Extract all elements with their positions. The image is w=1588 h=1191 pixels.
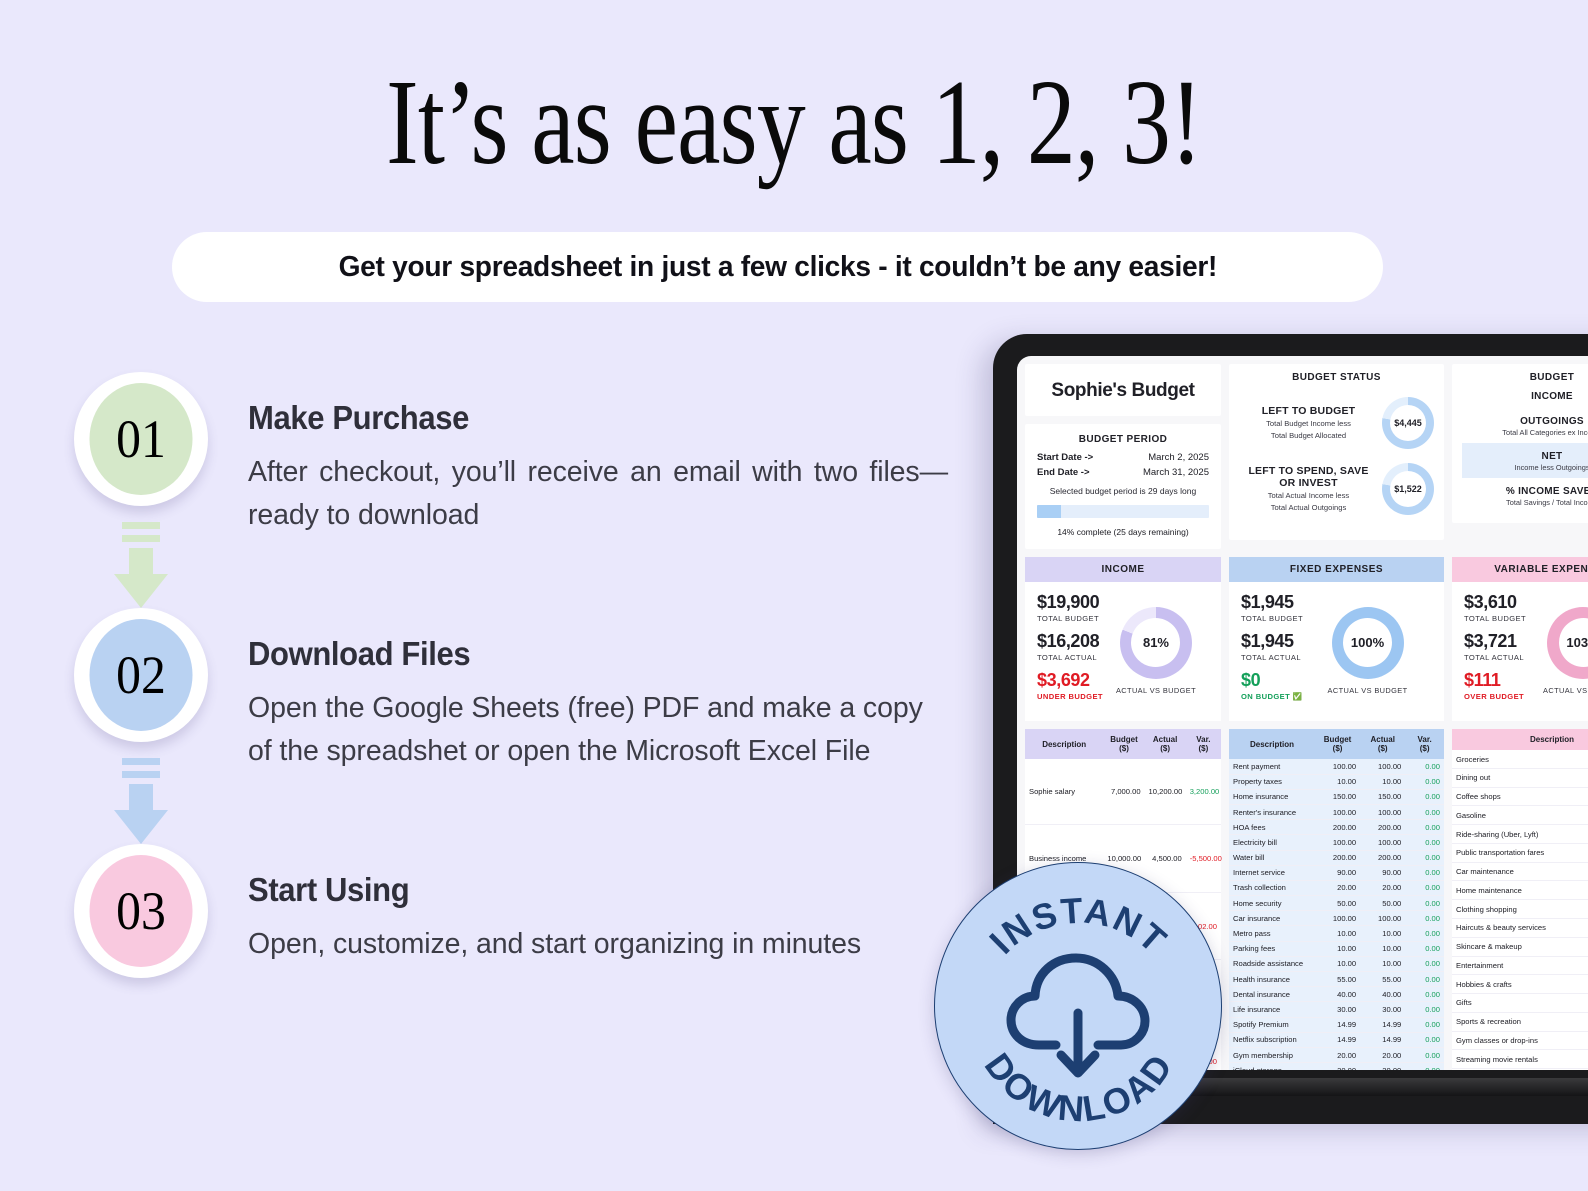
cell-variance: 3,200.00	[1186, 759, 1221, 824]
cell-variance: 0.00	[1405, 865, 1444, 880]
cell-budget: 200.00	[1315, 820, 1360, 835]
cell-actual: 10.00	[1360, 926, 1405, 941]
summary-income-saved-sub: Total Savings / Total Income	[1462, 498, 1588, 507]
spreadsheet-title: Sophie's Budget	[1025, 364, 1221, 416]
cell-actual: 100.00	[1360, 759, 1405, 774]
cell-description: Ride-sharing (Uber, Lyft)	[1452, 825, 1588, 844]
subtitle-text: Get your spreadsheet in just a few click…	[338, 251, 1217, 284]
metric-fixed-total-budget: $1,945	[1241, 592, 1303, 613]
steps-list: 01 Make Purchase After checkout, you’ll …	[72, 372, 952, 978]
cell-budget: 20.00	[1315, 880, 1360, 895]
fixed-table-head: DescriptionBudget($)Actual($)Var.($)	[1229, 729, 1444, 759]
step-02-body: Download Files Open the Google Sheets (f…	[210, 608, 948, 774]
metric-variable-donut: 103%	[1547, 607, 1588, 679]
metric-variable-pct: 103%	[1566, 635, 1588, 650]
metric-fixed-total-budget-label: TOTAL BUDGET	[1241, 614, 1303, 623]
table-row[interactable]: Sophie salary7,000.0010,200.003,200.00	[1025, 759, 1221, 824]
cell-actual: 150.00	[1360, 789, 1405, 804]
step-01-badge: 01	[74, 372, 208, 506]
cell-description: Haircuts & beauty services	[1452, 918, 1588, 937]
budget-status-column: BUDGET STATUS LEFT TO BUDGET Total Budge…	[1229, 364, 1444, 549]
metric-income-donut: 81%	[1120, 607, 1192, 679]
cell-budget: 90.00	[1315, 865, 1360, 880]
table-row[interactable]: Skincare & makeup	[1452, 937, 1588, 956]
metric-income-donut-label: ACTUAL VS BUDGET	[1116, 686, 1196, 695]
table-row[interactable]: Ride-sharing (Uber, Lyft)	[1452, 825, 1588, 844]
cell-variance: 0.00	[1405, 926, 1444, 941]
cell-budget: 50.00	[1315, 896, 1360, 911]
metric-income-pct: 81%	[1143, 635, 1169, 650]
cell-actual: 10.00	[1360, 941, 1405, 956]
step-03-title: Start Using	[248, 871, 906, 909]
table-row[interactable]: Dental insurance40.0040.000.00	[1229, 987, 1444, 1002]
left-to-budget-donut: $4,445	[1382, 397, 1434, 449]
table-row[interactable]: Dining out	[1452, 768, 1588, 787]
cell-description: Skincare & makeup	[1452, 937, 1588, 956]
cell-variance: 0.00	[1405, 835, 1444, 850]
metric-card-fixed-expenses: FIXED EXPENSES $1,945 TOTAL BUDGET $1,94…	[1229, 557, 1444, 721]
cell-actual: 20.00	[1360, 1063, 1405, 1070]
left-to-budget-title: LEFT TO BUDGET	[1239, 405, 1378, 417]
summary-row-income-saved: % INCOME SAVED Total Savings / Total Inc…	[1462, 478, 1588, 513]
cell-variance: 0.00	[1405, 896, 1444, 911]
table-row[interactable]: Coffee shops	[1452, 787, 1588, 806]
cell-description: Public transportation fares	[1452, 843, 1588, 862]
cell-variance: 0.00	[1405, 1017, 1444, 1032]
cell-description: Gym classes or drop-ins	[1452, 1031, 1588, 1050]
status-item-left-to-budget: LEFT TO BUDGET Total Budget Income less …	[1239, 397, 1434, 449]
column-header: Var.($)	[1186, 729, 1221, 759]
badge-svg: INSTANT DOWNLOAD	[935, 863, 1223, 1151]
table-row[interactable]: Internet service90.0090.000.00	[1229, 865, 1444, 880]
step-02-desc: Open the Google Sheets (free) PDF and ma…	[248, 687, 948, 774]
cell-description: Home insurance	[1229, 789, 1315, 804]
cell-variance: 0.00	[1405, 759, 1444, 774]
metric-income-variance: $3,692	[1037, 670, 1103, 691]
metric-variable-total-actual-label: TOTAL ACTUAL	[1464, 653, 1526, 662]
cell-description: Home maintenance	[1452, 881, 1588, 900]
cell-actual: 30.00	[1360, 1002, 1405, 1017]
table-row[interactable]: Haircuts & beauty services	[1452, 918, 1588, 937]
metric-income-total-actual-label: TOTAL ACTUAL	[1037, 653, 1103, 662]
table-row[interactable]: Sports & recreation	[1452, 1012, 1588, 1031]
table-row[interactable]: Water bill200.00200.000.00	[1229, 850, 1444, 865]
metric-income-heading: INCOME	[1025, 557, 1221, 582]
cell-variance: 0.00	[1405, 972, 1444, 987]
cell-budget: 100.00	[1315, 804, 1360, 819]
cell-description: Gasoline	[1452, 806, 1588, 825]
step-03-number: 03	[89, 855, 192, 967]
budget-period-card: BUDGET PERIOD Start Date -> March 2, 202…	[1025, 424, 1221, 549]
status-item-left-to-spend: LEFT TO SPEND, SAVE OR INVEST Total Actu…	[1239, 463, 1434, 515]
cell-description: Netflix subscription	[1229, 1032, 1315, 1047]
metric-fixed-variance-label: ON BUDGET ✅	[1241, 692, 1303, 701]
step-01-badge-wrap: 01	[72, 372, 210, 614]
cell-variance: 0.00	[1405, 1002, 1444, 1017]
step-02-arrow-icon	[110, 758, 172, 850]
cell-variance: 0.00	[1405, 941, 1444, 956]
cell-budget: 40.00	[1315, 987, 1360, 1002]
metric-income-total-budget-label: TOTAL BUDGET	[1037, 614, 1103, 623]
variable-expenses-table[interactable]: Description GroceriesDining outCoffee sh…	[1452, 729, 1588, 1070]
table-row[interactable]: Public transportation fares	[1452, 843, 1588, 862]
cell-description: Parking fees	[1229, 941, 1315, 956]
table-row[interactable]: Gasoline	[1452, 806, 1588, 825]
table-row[interactable]: HOA fees200.00200.000.00	[1229, 820, 1444, 835]
metric-income-total-budget: $19,900	[1037, 592, 1103, 613]
column-header: Description	[1025, 729, 1103, 759]
progress-bar	[1037, 505, 1209, 518]
metric-variable-total-budget: $3,610	[1464, 592, 1526, 613]
metric-fixed-pct: 100%	[1351, 635, 1384, 650]
cell-description: Spotify Premium	[1229, 1017, 1315, 1032]
budget-summary-column: BUDGET INCOME OUTGOINGS Total All Catego…	[1452, 364, 1588, 549]
cell-description: Property taxes	[1229, 774, 1315, 789]
cell-description: HOA fees	[1229, 820, 1315, 835]
table-row[interactable]: Parking fees10.0010.000.00	[1229, 941, 1444, 956]
page-title: It’s as easy as 1, 2, 3!	[159, 62, 1429, 184]
cell-description: Books	[1452, 1069, 1588, 1070]
cell-actual: 55.00	[1360, 972, 1405, 987]
metric-variable-variance: $111	[1464, 670, 1526, 691]
cell-actual: 40.00	[1360, 987, 1405, 1002]
cell-actual: 100.00	[1360, 804, 1405, 819]
metric-card-income: INCOME $19,900 TOTAL BUDGET $16,208 TOTA…	[1025, 557, 1221, 721]
table-row[interactable]: Life insurance30.0030.000.00	[1229, 1002, 1444, 1017]
metric-variable-variance-label: OVER BUDGET	[1464, 692, 1526, 701]
cell-description: Sophie salary	[1025, 759, 1103, 824]
summary-net-sub: Income less Outgoings	[1462, 463, 1588, 472]
cell-description: Streaming movie rentals	[1452, 1050, 1588, 1069]
summary-income-saved-label: % INCOME SAVED	[1462, 486, 1588, 497]
left-to-budget-sub1: Total Budget Income less	[1239, 419, 1378, 429]
metric-fixed-variance: $0	[1241, 670, 1303, 691]
summary-row-outgoings: OUTGOINGS Total All Categories ex Income	[1462, 408, 1588, 443]
left-to-budget-value: $4,445	[1394, 418, 1422, 428]
cell-budget: 10.00	[1315, 941, 1360, 956]
step-item-03: 03 Start Using Open, customize, and star…	[72, 844, 952, 978]
cell-budget: 200.00	[1315, 850, 1360, 865]
step-01-number: 01	[89, 383, 192, 495]
cell-variance: 0.00	[1405, 804, 1444, 819]
step-item-02: 02 Download Files Open the Google Sheets…	[72, 608, 952, 850]
step-02-badge: 02	[74, 608, 208, 742]
cell-variance: 0.00	[1405, 850, 1444, 865]
budget-period-heading: BUDGET PERIOD	[1037, 434, 1209, 445]
table-row[interactable]: Groceries	[1452, 750, 1588, 768]
step-02-badge-wrap: 02	[72, 608, 210, 850]
table-row[interactable]: Gifts	[1452, 994, 1588, 1013]
table-row[interactable]: Home maintenance	[1452, 881, 1588, 900]
left-to-spend-sub1: Total Actual Income less	[1239, 491, 1378, 501]
cell-variance: 0.00	[1405, 956, 1444, 971]
table-row[interactable]: Home security50.0050.000.00	[1229, 896, 1444, 911]
cell-actual: 20.00	[1360, 1047, 1405, 1062]
cell-description: Entertainment	[1452, 956, 1588, 975]
summary-net-label: NET	[1462, 451, 1588, 462]
cell-description: Coffee shops	[1452, 787, 1588, 806]
metric-income-total-actual: $16,208	[1037, 631, 1103, 652]
step-02-number: 02	[89, 619, 192, 731]
cell-budget: 100.00	[1315, 759, 1360, 774]
metric-variable-heading: VARIABLE EXPENSES	[1452, 557, 1588, 582]
cell-variance: 0.00	[1405, 1063, 1444, 1070]
cell-description: Clothing shopping	[1452, 900, 1588, 919]
instant-download-badge: INSTANT DOWNLOAD	[934, 862, 1222, 1150]
column-header: Var.($)	[1405, 729, 1444, 759]
cell-actual: 90.00	[1360, 865, 1405, 880]
cell-budget: 100.00	[1315, 835, 1360, 850]
column-header: Description	[1452, 729, 1588, 750]
cell-budget: 10.00	[1315, 774, 1360, 789]
table-row[interactable]: Roadside assistance10.0010.000.00	[1229, 956, 1444, 971]
table-row[interactable]: Home insurance150.00150.000.00	[1229, 789, 1444, 804]
start-date-value: March 2, 2025	[1148, 452, 1209, 463]
table-row[interactable]: iCloud storage20.0020.000.00	[1229, 1063, 1444, 1070]
metric-fixed-donut-label: ACTUAL VS BUDGET	[1328, 686, 1408, 695]
cell-budget: 14.99	[1315, 1032, 1360, 1047]
budget-summary-card: BUDGET INCOME OUTGOINGS Total All Catego…	[1452, 364, 1588, 523]
cell-description: Electricity bill	[1229, 835, 1315, 850]
cell-description: Water bill	[1229, 850, 1315, 865]
column-header: Actual($)	[1360, 729, 1405, 759]
table-row[interactable]: Clothing shopping	[1452, 900, 1588, 919]
table-row[interactable]: Rent payment100.00100.000.00	[1229, 759, 1444, 774]
column-header: Budget($)	[1315, 729, 1360, 759]
step-item-01: 01 Make Purchase After checkout, you’ll …	[72, 372, 952, 614]
cell-description: Internet service	[1229, 865, 1315, 880]
cell-variance: 0.00	[1405, 880, 1444, 895]
cell-description: Metro pass	[1229, 926, 1315, 941]
sheet-top-row: Sophie's Budget BUDGET PERIOD Start Date…	[1017, 356, 1588, 549]
step-01-desc: After checkout, you’ll receive an email …	[248, 451, 948, 538]
left-to-budget-sub2: Total Budget Allocated	[1239, 431, 1378, 441]
cell-variance: 0.00	[1405, 987, 1444, 1002]
cell-variance: 0.00	[1405, 911, 1444, 926]
summary-outgoings-sub: Total All Categories ex Income	[1462, 428, 1588, 437]
left-to-spend-title: LEFT TO SPEND, SAVE OR INVEST	[1239, 465, 1378, 489]
cell-description: Car maintenance	[1452, 862, 1588, 881]
cell-actual: 10.00	[1360, 774, 1405, 789]
column-header: Description	[1229, 729, 1315, 759]
end-date-value: March 31, 2025	[1143, 467, 1209, 478]
metric-fixed-total-actual-label: TOTAL ACTUAL	[1241, 653, 1303, 662]
cell-actual: 10,200.00	[1145, 759, 1186, 824]
variable-expenses-table-body: GroceriesDining outCoffee shopsGasolineR…	[1452, 750, 1588, 1070]
progress-text: 14% complete (25 days remaining)	[1037, 527, 1209, 537]
metric-card-variable-expenses: VARIABLE EXPENSES $3,610 TOTAL BUDGET $3…	[1452, 557, 1588, 721]
table-row[interactable]: Hobbies & crafts	[1452, 975, 1588, 994]
cell-description: Hobbies & crafts	[1452, 975, 1588, 994]
budget-status-heading: BUDGET STATUS	[1239, 372, 1434, 383]
cell-budget: 150.00	[1315, 789, 1360, 804]
cell-description: Trash collection	[1229, 880, 1315, 895]
table-row[interactable]: Streaming movie rentals	[1452, 1050, 1588, 1069]
table-row[interactable]: Metro pass10.0010.000.00	[1229, 926, 1444, 941]
cloud-download-icon	[1011, 958, 1145, 1073]
cell-description: Home security	[1229, 896, 1315, 911]
metrics-row: INCOME $19,900 TOTAL BUDGET $16,208 TOTA…	[1017, 549, 1588, 721]
end-date-label: End Date ->	[1037, 467, 1090, 478]
left-to-spend-sub2: Total Actual Outgoings	[1239, 503, 1378, 513]
subtitle-banner: Get your spreadsheet in just a few click…	[172, 232, 1383, 302]
summary-outgoings-label: OUTGOINGS	[1462, 416, 1588, 427]
cell-variance: 0.00	[1405, 1047, 1444, 1062]
metric-fixed-total-actual: $1,945	[1241, 631, 1303, 652]
start-date-row: Start Date -> March 2, 2025	[1037, 452, 1209, 463]
summary-row-net: NET Income less Outgoings	[1462, 443, 1588, 478]
budget-status-card: BUDGET STATUS LEFT TO BUDGET Total Budge…	[1229, 364, 1444, 540]
left-to-spend-value: $1,522	[1394, 484, 1422, 494]
cell-actual: 20.00	[1360, 880, 1405, 895]
table-row[interactable]: Entertainment	[1452, 956, 1588, 975]
cell-description: Gifts	[1452, 994, 1588, 1013]
metric-fixed-heading: FIXED EXPENSES	[1229, 557, 1444, 582]
table-row[interactable]: Spotify Premium14.9914.990.00	[1229, 1017, 1444, 1032]
table-row[interactable]: Car maintenance	[1452, 862, 1588, 881]
table-row[interactable]: Gym membership20.0020.000.00	[1229, 1047, 1444, 1062]
step-01-title: Make Purchase	[248, 399, 906, 437]
check-icon: ✅	[1293, 692, 1303, 701]
table-row[interactable]: Renter's insurance100.00100.000.00	[1229, 804, 1444, 819]
start-date-label: Start Date ->	[1037, 452, 1093, 463]
table-row[interactable]: Gym classes or drop-ins	[1452, 1031, 1588, 1050]
cell-budget: 20.00	[1315, 1063, 1360, 1070]
metric-variable-donut-label: ACTUAL VS BUDGET	[1543, 686, 1588, 695]
budget-period-column: Sophie's Budget BUDGET PERIOD Start Date…	[1025, 364, 1221, 549]
budget-period-note: Selected budget period is 29 days long	[1037, 486, 1209, 496]
cell-description: Rent payment	[1229, 759, 1315, 774]
cell-variance: 0.00	[1405, 789, 1444, 804]
cell-variance: 0.00	[1405, 1032, 1444, 1047]
cell-actual: 200.00	[1360, 820, 1405, 835]
fixed-expenses-table[interactable]: DescriptionBudget($)Actual($)Var.($) Ren…	[1229, 729, 1444, 1070]
cell-description: iCloud storage	[1229, 1063, 1315, 1070]
step-01-arrow-icon	[110, 522, 172, 614]
summary-row-income: INCOME	[1462, 383, 1588, 408]
cell-budget: 55.00	[1315, 972, 1360, 987]
cell-budget: 20.00	[1315, 1047, 1360, 1062]
cell-budget: 100.00	[1315, 911, 1360, 926]
table-header-row: DescriptionBudget($)Actual($)Var.($)	[1025, 729, 1221, 759]
step-03-badge-wrap: 03	[72, 844, 210, 978]
income-table-head: DescriptionBudget($)Actual($)Var.($)	[1025, 729, 1221, 759]
step-03-body: Start Using Open, customize, and start o…	[210, 844, 948, 966]
cell-budget: 10.00	[1315, 956, 1360, 971]
left-to-spend-donut: $1,522	[1382, 463, 1434, 515]
variable-table-head: Description	[1452, 729, 1588, 750]
table-row[interactable]: Car insurance100.00100.000.00	[1229, 911, 1444, 926]
metric-variable-total-actual: $3,721	[1464, 631, 1526, 652]
cell-description: Gym membership	[1229, 1047, 1315, 1062]
cell-description: Dining out	[1452, 768, 1588, 787]
table-row[interactable]: Electricity bill100.00100.000.00	[1229, 835, 1444, 850]
cell-description: Roadside assistance	[1229, 956, 1315, 971]
table-row[interactable]: Books	[1452, 1069, 1588, 1070]
metric-income-variance-label: UNDER BUDGET	[1037, 692, 1103, 701]
column-header: Budget($)	[1103, 729, 1144, 759]
step-02-title: Download Files	[248, 635, 906, 673]
cell-description: Sports & recreation	[1452, 1012, 1588, 1031]
cell-actual: 100.00	[1360, 911, 1405, 926]
metric-variable-total-budget-label: TOTAL BUDGET	[1464, 614, 1526, 623]
cell-description: Renter's insurance	[1229, 804, 1315, 819]
summary-income-label: INCOME	[1462, 391, 1588, 402]
cell-actual: 14.99	[1360, 1017, 1405, 1032]
budget-summary-heading: BUDGET	[1462, 372, 1588, 383]
table-header-row: Description	[1452, 729, 1588, 750]
cell-description: Health insurance	[1229, 972, 1315, 987]
cell-variance: 0.00	[1405, 774, 1444, 789]
cell-actual: 50.00	[1360, 896, 1405, 911]
cell-budget: 10.00	[1315, 926, 1360, 941]
table-header-row: DescriptionBudget($)Actual($)Var.($)	[1229, 729, 1444, 759]
table-row[interactable]: Trash collection20.0020.000.00	[1229, 880, 1444, 895]
badge-top-text: INSTANT	[981, 890, 1175, 962]
cell-actual: 14.99	[1360, 1032, 1405, 1047]
cell-variance: 0.00	[1405, 820, 1444, 835]
end-date-row: End Date -> March 31, 2025	[1037, 467, 1209, 478]
cell-actual: 200.00	[1360, 850, 1405, 865]
cell-budget: 30.00	[1315, 1002, 1360, 1017]
column-header: Actual($)	[1145, 729, 1186, 759]
step-03-desc: Open, customize, and start organizing in…	[248, 923, 948, 966]
table-row[interactable]: Property taxes10.0010.000.00	[1229, 774, 1444, 789]
cell-actual: 100.00	[1360, 835, 1405, 850]
cell-description: Dental insurance	[1229, 987, 1315, 1002]
step-03-badge: 03	[74, 844, 208, 978]
cell-budget: 14.99	[1315, 1017, 1360, 1032]
cell-description: Car insurance	[1229, 911, 1315, 926]
fixed-expenses-table-body: Rent payment100.00100.000.00Property tax…	[1229, 759, 1444, 1070]
cell-description: Groceries	[1452, 750, 1588, 768]
metric-fixed-donut: 100%	[1332, 607, 1404, 679]
cell-budget: 7,000.00	[1103, 759, 1144, 824]
cell-actual: 10.00	[1360, 956, 1405, 971]
step-01-body: Make Purchase After checkout, you’ll rec…	[210, 372, 948, 538]
table-row[interactable]: Health insurance55.0055.000.00	[1229, 972, 1444, 987]
table-row[interactable]: Netflix subscription14.9914.990.00	[1229, 1032, 1444, 1047]
cell-description: Life insurance	[1229, 1002, 1315, 1017]
